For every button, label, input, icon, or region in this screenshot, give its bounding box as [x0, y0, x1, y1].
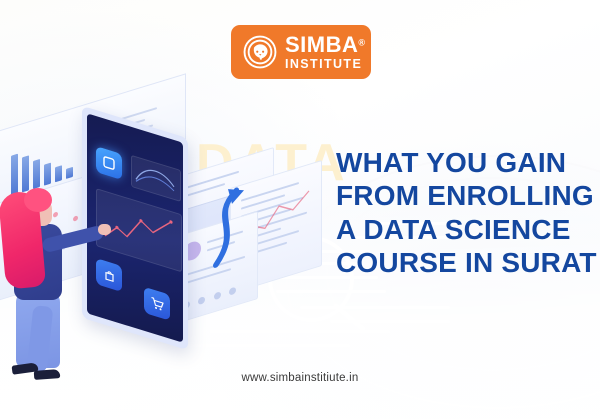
lion-head-icon	[240, 32, 280, 72]
hair-bun	[24, 188, 52, 212]
hero-illustration	[0, 96, 324, 386]
hand	[98, 224, 111, 235]
logo-wordmark: SIMBA® INSTITUTE	[285, 34, 365, 71]
headline-line-3: A DATA SCIENCE	[336, 213, 600, 246]
corner-ribbon	[490, 0, 600, 110]
headline-line-4: COURSE IN SURAT	[336, 246, 600, 279]
website-url[interactable]: www.simbainstitiute.in	[0, 372, 600, 384]
cursor-click-icon[interactable]	[96, 146, 122, 180]
logo-brand-primary: SIMBA	[285, 34, 358, 56]
logo-brand-secondary: INSTITUTE	[285, 58, 365, 71]
promo-banner: DATA	[0, 0, 600, 419]
headline-line-1: WHAT YOU GAIN	[336, 146, 600, 179]
headline: WHAT YOU GAIN FROM ENROLLING IN A DATA S…	[336, 146, 600, 279]
registered-trademark-icon: ®	[358, 37, 365, 47]
shopping-cart-icon[interactable]	[144, 287, 170, 321]
shopping-bag-icon[interactable]	[96, 258, 122, 292]
screen-chart-panel	[131, 155, 181, 202]
simba-institute-logo[interactable]: SIMBA® INSTITUTE	[231, 25, 371, 79]
headline-line-2: FROM ENROLLING IN	[336, 179, 600, 212]
